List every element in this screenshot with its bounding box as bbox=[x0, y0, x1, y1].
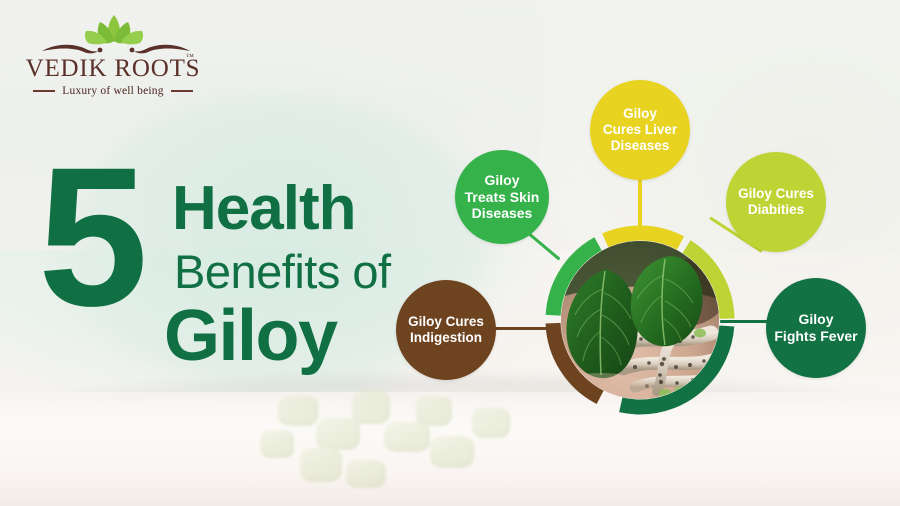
brand-tagline-row: Luxury of well being bbox=[18, 85, 208, 97]
benefit-bubble-skin[interactable]: Giloy Treats Skin Diseases bbox=[455, 150, 549, 244]
benefit-liver-line3: Diseases bbox=[611, 138, 670, 153]
benefit-liver-line1: Giloy bbox=[623, 106, 657, 121]
benefit-skin-line1: Giloy bbox=[484, 172, 519, 188]
brand-logo[interactable]: VEDIK ROOTS ™ Luxury of well being bbox=[18, 14, 208, 94]
center-hub bbox=[543, 223, 737, 417]
headline-benefits: Benefits of bbox=[174, 248, 391, 295]
tagline-rule-left bbox=[33, 90, 55, 91]
benefit-skin-line3: Diseases bbox=[472, 205, 533, 221]
headline-health: Health bbox=[172, 178, 355, 240]
infographic-poster: VEDIK ROOTS ™ Luxury of well being 5 Hea… bbox=[0, 0, 900, 506]
benefit-indigestion-line2: Indigestion bbox=[410, 330, 482, 345]
headline-giloy: Giloy bbox=[164, 300, 337, 372]
tagline-rule-right bbox=[171, 90, 193, 91]
headline-number: 5 bbox=[38, 156, 140, 318]
benefit-liver-line2: Cures Liver bbox=[603, 122, 677, 137]
benefit-fever-line2: Fights Fever bbox=[774, 328, 857, 344]
benefit-bubble-diabetes[interactable]: Giloy Cures Diabities bbox=[726, 152, 826, 252]
benefit-diabetes-line1: Giloy Cures bbox=[738, 186, 814, 201]
brand-tagline: Luxury of well being bbox=[62, 85, 163, 97]
benefit-bubble-indigestion[interactable]: Giloy Cures Indigestion bbox=[396, 280, 496, 380]
benefit-fever-line1: Giloy bbox=[798, 311, 833, 327]
benefit-bubble-liver[interactable]: Giloy Cures Liver Diseases bbox=[590, 80, 690, 180]
benefit-bubble-fever[interactable]: Giloy Fights Fever bbox=[766, 278, 866, 378]
benefit-skin-line2: Treats Skin bbox=[465, 189, 540, 205]
page-title: 5 Health Benefits of Giloy bbox=[38, 168, 438, 368]
trademark-symbol: ™ bbox=[186, 52, 194, 61]
benefit-indigestion-line1: Giloy Cures bbox=[408, 314, 484, 329]
connector-line-liver bbox=[638, 176, 642, 228]
segmented-color-ring bbox=[543, 223, 737, 417]
benefit-diabetes-line2: Diabities bbox=[748, 202, 804, 217]
background-giloy-chips bbox=[0, 374, 600, 506]
brand-name: VEDIK ROOTS bbox=[18, 55, 208, 83]
